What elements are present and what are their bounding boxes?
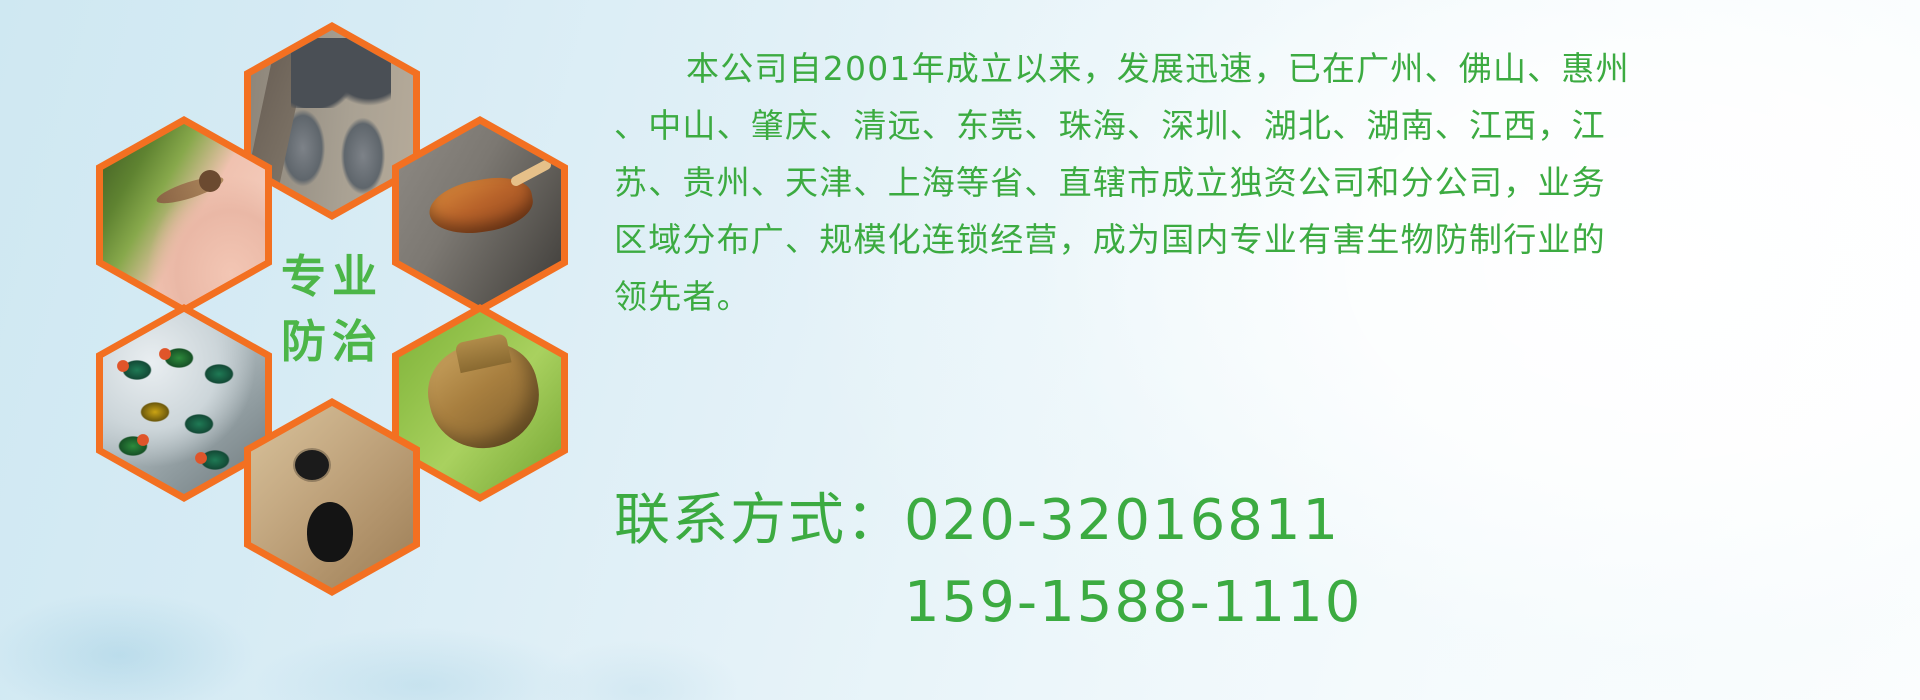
hex-label-line-2: 防治 <box>281 309 383 374</box>
contact-primary-phone[interactable]: 联系方式：020-32016811 <box>614 480 1914 562</box>
about-line-5: 领先者。 <box>614 268 1914 325</box>
flies-image <box>103 312 265 494</box>
hexagon-photo-cluster: 专业 防治 <box>88 8 588 568</box>
content-area: 本公司自2001年成立以来，发展迅速，已在广州、佛山、惠州 、中山、肇庆、清远、… <box>600 0 1920 700</box>
hex-inner-cockroach <box>399 124 561 306</box>
hex-inner-rats <box>251 30 413 212</box>
about-paragraph: 本公司自2001年成立以来，发展迅速，已在广州、佛山、惠州 、中山、肇庆、清远、… <box>614 40 1914 325</box>
about-line-4: 区域分布广、规模化连锁经营，成为国内专业有害生物防制行业的 <box>614 211 1914 268</box>
ant-image <box>251 406 413 588</box>
hex-inner-stinkbug <box>399 312 561 494</box>
about-line-1: 本公司自2001年成立以来，发展迅速，已在广州、佛山、惠州 <box>614 40 1914 97</box>
cockroach-image <box>399 124 561 306</box>
contact-secondary-phone[interactable]: 159-1588-1110 <box>614 562 1914 644</box>
hex-center-label: 专业 防治 <box>244 204 420 414</box>
about-line-2: 、中山、肇庆、清远、东莞、珠海、深圳、湖北、湖南、江西，江 <box>614 97 1914 154</box>
hex-label-line-1: 专业 <box>281 244 383 309</box>
stinkbug-image <box>399 312 561 494</box>
promo-banner: 专业 防治 本公司自2001年成立以来，发展迅速，已在广州、佛山、惠州 、中山、… <box>0 0 1920 700</box>
contact-block: 联系方式：020-32016811 159-1588-1110 <box>614 480 1914 644</box>
hex-inner-mosquito <box>103 124 265 306</box>
hex-inner-ant <box>251 406 413 588</box>
about-line-3: 苏、贵州、天津、上海等省、直辖市成立独资公司和分公司，业务 <box>614 154 1914 211</box>
mosquito-image <box>103 124 265 306</box>
hex-inner-flies <box>103 312 265 494</box>
rats-image <box>251 30 413 212</box>
